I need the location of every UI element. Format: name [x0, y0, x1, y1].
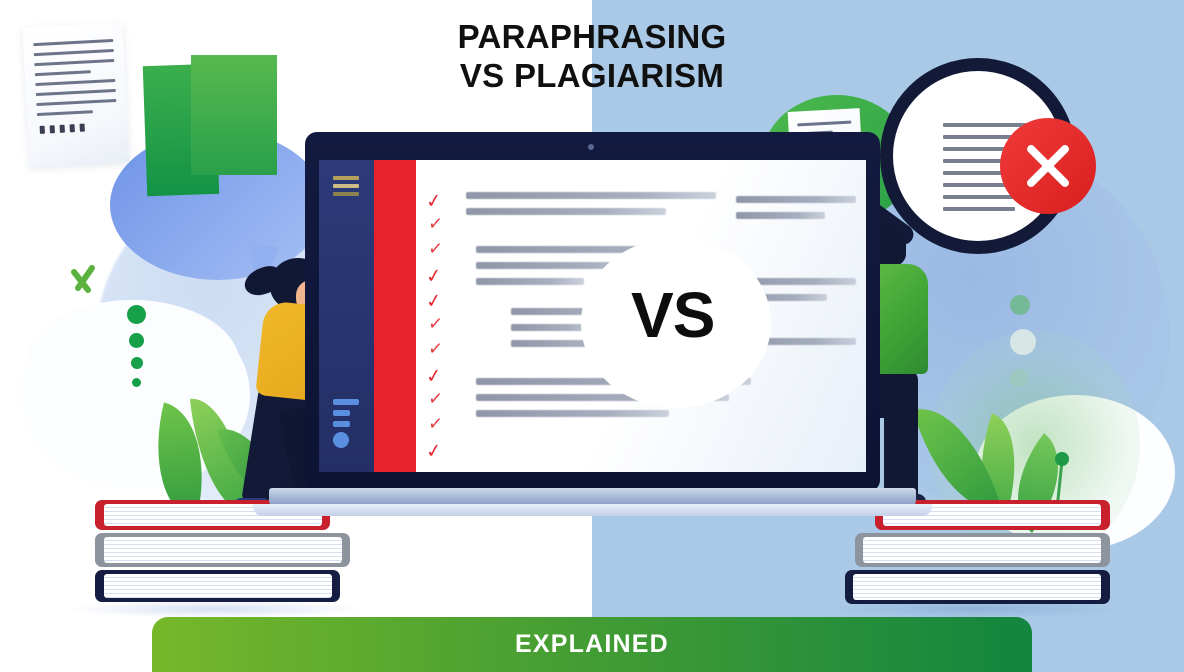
page-title: PARAPHRASING VS PLAGIARISM	[0, 18, 1184, 96]
accent-stripe	[374, 160, 416, 472]
laptop-screen: ✓ ✓ ✓ ✓ ✓ ✓ ✓ ✓ ✓ ✓ ✓	[319, 160, 866, 472]
sprout-bud-icon	[1055, 452, 1069, 466]
red-check-marks-column: ✓ ✓ ✓ ✓ ✓ ✓ ✓ ✓ ✓ ✓ ✓	[426, 188, 460, 463]
title-line-1: PARAPHRASING	[458, 18, 727, 55]
document-text-block	[736, 196, 856, 228]
laptop-base-shadow	[253, 504, 932, 516]
document-text-block	[466, 192, 716, 224]
book-gray	[95, 533, 350, 567]
book-gray	[855, 533, 1110, 567]
laptop-illustration: ✓ ✓ ✓ ✓ ✓ ✓ ✓ ✓ ✓ ✓ ✓	[305, 132, 880, 522]
red-check-icon: ✓	[424, 436, 461, 465]
typing-dots	[127, 305, 146, 396]
title-line-2: VS PLAGIARISM	[0, 57, 1184, 96]
infographic-canvas: PARAPHRASING VS PLAGIARISM	[0, 0, 1184, 672]
app-sidebar[interactable]	[319, 160, 374, 472]
banner-label: EXPLAINED	[515, 630, 669, 659]
book-navy	[95, 570, 340, 602]
bottom-banner: EXPLAINED	[152, 617, 1032, 672]
list-bullet-icon[interactable]	[333, 399, 359, 448]
hamburger-menu-icon[interactable]	[333, 176, 359, 196]
vs-label: VS	[631, 278, 714, 352]
book-navy	[845, 570, 1110, 604]
decor-dots-right	[1010, 295, 1036, 401]
document-pane[interactable]: ✓ ✓ ✓ ✓ ✓ ✓ ✓ ✓ ✓ ✓ ✓	[416, 160, 866, 472]
book-stack-right	[845, 500, 1110, 607]
webcam-icon	[588, 144, 594, 150]
cross-icon	[1000, 118, 1096, 214]
laptop-bezel: ✓ ✓ ✓ ✓ ✓ ✓ ✓ ✓ ✓ ✓ ✓	[305, 132, 880, 492]
green-check-stroke-icon	[70, 262, 110, 302]
